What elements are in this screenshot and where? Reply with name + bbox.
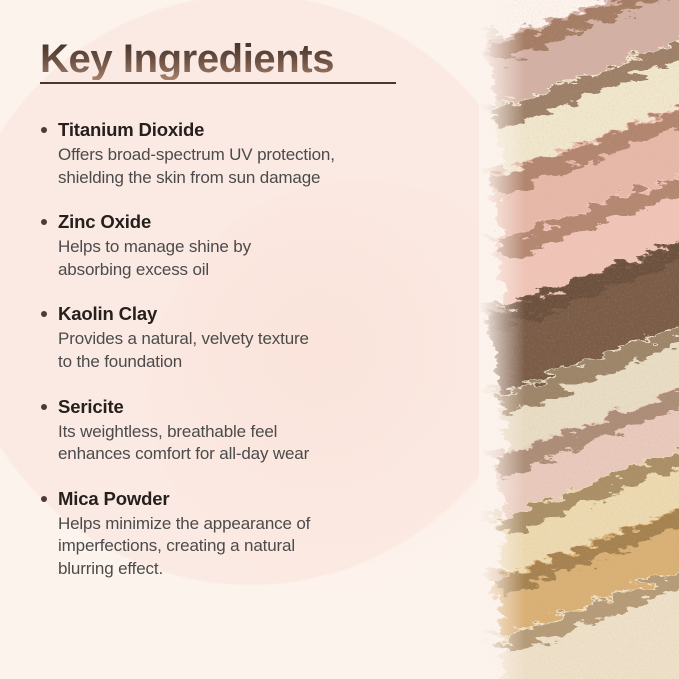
page-title: Key Ingredients — [40, 38, 396, 80]
list-item: Zinc Oxide Helps to manage shine by abso… — [38, 210, 458, 281]
ingredient-list: Titanium Dioxide Offers broad-spectrum U… — [38, 118, 458, 581]
list-item: Titanium Dioxide Offers broad-spectrum U… — [38, 118, 458, 189]
bullet-icon — [41, 404, 47, 410]
list-item: Mica Powder Helps minimize the appearanc… — [38, 487, 458, 581]
page-title-block: Key Ingredients — [40, 38, 396, 84]
bullet-icon — [41, 219, 47, 225]
ingredients-infographic: Key Ingredients Titanium Dioxide Offers … — [0, 0, 679, 679]
ingredient-name: Sericite — [58, 395, 458, 420]
ingredient-name: Mica Powder — [58, 487, 458, 512]
bullet-icon — [41, 127, 47, 133]
ingredient-description: Helps to manage shine by absorbing exces… — [58, 236, 458, 281]
powder-swatch-svg — [479, 0, 679, 679]
ingredient-name: Titanium Dioxide — [58, 118, 458, 143]
content-column: Key Ingredients Titanium Dioxide Offers … — [0, 0, 470, 679]
list-item: Sericite Its weightless, breathable feel… — [38, 395, 458, 466]
bullet-icon — [41, 311, 47, 317]
ingredient-description: Provides a natural, velvety texture to t… — [58, 328, 458, 373]
ingredient-description: Its weightless, breathable feel enhances… — [58, 421, 458, 466]
title-underline — [40, 82, 396, 84]
powder-swatch-image — [479, 0, 679, 679]
ingredient-description: Offers broad-spectrum UV protection, shi… — [58, 144, 458, 189]
ingredient-name: Zinc Oxide — [58, 210, 458, 235]
ingredient-description: Helps minimize the appearance of imperfe… — [58, 513, 458, 581]
ingredient-name: Kaolin Clay — [58, 302, 458, 327]
list-item: Kaolin Clay Provides a natural, velvety … — [38, 302, 458, 373]
bullet-icon — [41, 496, 47, 502]
